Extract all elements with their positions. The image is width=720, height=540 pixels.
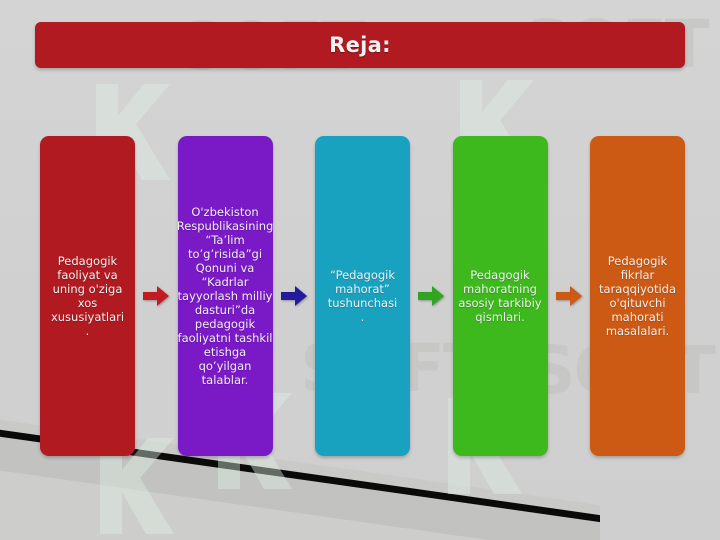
flow-node-3[interactable]: “Pedagogik mahorat” tushunchasi .	[315, 136, 410, 456]
flow-node-3-label: “Pedagogik mahorat” tushunchasi .	[320, 268, 405, 324]
process-flow-diagram: Pedagogik faoliyat va uning o'ziga xos x…	[40, 136, 685, 456]
flow-node-2-label: O'zbekiston Respublikasining “Ta’lim to’…	[177, 205, 274, 387]
arrow-right-icon	[281, 285, 307, 307]
arrow-right-icon	[556, 285, 582, 307]
slide-title-bar: Reja:	[35, 22, 685, 68]
flow-arrow-3	[410, 136, 453, 456]
arrow-right-icon	[143, 285, 169, 307]
flow-node-4[interactable]: Pedagogik mahoratning asosiy tarkibiy qi…	[453, 136, 548, 456]
flow-node-2[interactable]: O'zbekiston Respublikasining “Ta’lim to’…	[178, 136, 273, 456]
slide-canvas: SOFT SOFT SOFT SOFT Reja: Pedagogik faol…	[0, 0, 720, 540]
page-title: Reja:	[329, 33, 391, 57]
flow-node-5[interactable]: Pedagogik fikrlar taraqqiyotida o'qituvc…	[590, 136, 685, 456]
flow-node-5-label: Pedagogik fikrlar taraqqiyotida o'qituvc…	[595, 254, 680, 338]
flow-arrow-1	[135, 136, 178, 456]
flow-arrow-4	[548, 136, 591, 456]
flow-node-4-label: Pedagogik mahoratning asosiy tarkibiy qi…	[458, 268, 543, 324]
flow-node-1[interactable]: Pedagogik faoliyat va uning o'ziga xos x…	[40, 136, 135, 456]
flow-arrow-2	[273, 136, 316, 456]
flow-node-1-label: Pedagogik faoliyat va uning o'ziga xos x…	[45, 254, 130, 338]
arrow-right-icon	[418, 285, 444, 307]
